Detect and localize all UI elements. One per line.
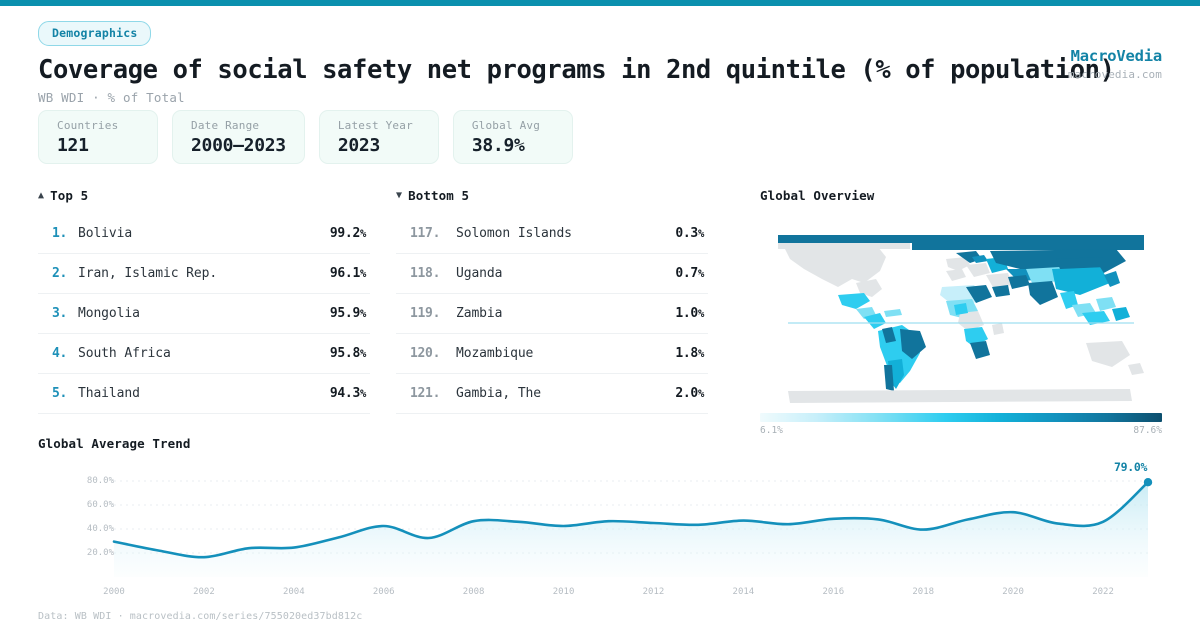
table-row[interactable]: 1.Bolivia99.2% bbox=[38, 214, 370, 254]
stat-card-date-range: Date Range 2000–2023 bbox=[172, 110, 305, 164]
x-axis-tick-label: 2008 bbox=[463, 587, 485, 597]
country-name: Iran, Islamic Rep. bbox=[78, 266, 330, 281]
map-region bbox=[1052, 267, 1110, 295]
percent-unit: % bbox=[698, 348, 704, 360]
table-row[interactable]: 117.Solomon Islands0.3% bbox=[396, 214, 708, 254]
top5-list: 1.Bolivia99.2%2.Iran, Islamic Rep.96.1%3… bbox=[38, 214, 370, 414]
world-map-svg bbox=[760, 213, 1162, 409]
table-row[interactable]: 119.Zambia1.0% bbox=[396, 294, 708, 334]
country-value: 95.9% bbox=[330, 306, 366, 321]
trend-area-fill bbox=[114, 482, 1148, 577]
map-region bbox=[788, 389, 1132, 403]
country-value: 0.7% bbox=[675, 266, 704, 281]
stat-value: 38.9% bbox=[472, 135, 554, 156]
percent-unit: % bbox=[698, 308, 704, 320]
country-value: 0.3% bbox=[675, 226, 704, 241]
map-region bbox=[1104, 271, 1120, 287]
y-axis-tick-label: 20.0% bbox=[87, 548, 114, 558]
map-region bbox=[912, 243, 1144, 250]
map-region bbox=[992, 323, 1004, 335]
country-value: 96.1% bbox=[330, 266, 366, 281]
country-name: Thailand bbox=[78, 386, 330, 401]
country-value: 95.8% bbox=[330, 346, 366, 361]
x-axis-tick-label: 2000 bbox=[103, 587, 125, 597]
map-region bbox=[838, 293, 870, 309]
percent-unit: % bbox=[360, 388, 366, 400]
stat-card-global-avg: Global Avg 38.9% bbox=[453, 110, 573, 164]
country-name: Mozambique bbox=[456, 346, 675, 361]
bottom5-heading: ▼ Bottom 5 bbox=[396, 188, 708, 203]
stat-label: Date Range bbox=[191, 119, 286, 132]
bottom5-list: 117.Solomon Islands0.3%118.Uganda0.7%119… bbox=[396, 214, 708, 414]
bottom5-heading-label: Bottom 5 bbox=[408, 188, 469, 203]
brand-url: macrovedia.com bbox=[1068, 68, 1162, 81]
rank-number: 121. bbox=[410, 386, 456, 401]
world-choropleth-map[interactable] bbox=[760, 213, 1162, 409]
table-row[interactable]: 120.Mozambique1.8% bbox=[396, 334, 708, 374]
country-value: 94.3% bbox=[330, 386, 366, 401]
x-axis-tick-label: 2012 bbox=[643, 587, 665, 597]
global-overview-panel: Global Overview 6.1% 87.6% bbox=[760, 188, 1162, 436]
stat-label: Countries bbox=[57, 119, 139, 132]
stat-label: Latest Year bbox=[338, 119, 420, 132]
brand[interactable]: MacroVedia macrovedia.com bbox=[1068, 47, 1162, 81]
map-legend-labels: 6.1% 87.6% bbox=[760, 425, 1162, 436]
stat-value: 2023 bbox=[338, 135, 420, 156]
map-region bbox=[884, 309, 902, 317]
map-region bbox=[1008, 275, 1030, 289]
table-row[interactable]: 118.Uganda0.7% bbox=[396, 254, 708, 294]
x-axis-tick-label: 2002 bbox=[193, 587, 215, 597]
percent-unit: % bbox=[360, 308, 366, 320]
percent-unit: % bbox=[360, 268, 366, 280]
percent-unit: % bbox=[360, 228, 366, 240]
trend-end-point[interactable] bbox=[1144, 478, 1152, 486]
table-row[interactable]: 3.Mongolia95.9% bbox=[38, 294, 370, 334]
country-name: Uganda bbox=[456, 266, 675, 281]
table-row[interactable]: 4.South Africa95.8% bbox=[38, 334, 370, 374]
map-region bbox=[1112, 307, 1130, 321]
table-row[interactable]: 121.Gambia, The2.0% bbox=[396, 374, 708, 414]
map-region bbox=[1086, 341, 1130, 367]
brand-name: MacroVedia bbox=[1068, 47, 1162, 65]
rank-number: 1. bbox=[52, 226, 78, 241]
page-title: Coverage of social safety net programs i… bbox=[38, 55, 1162, 85]
x-axis-tick-label: 2014 bbox=[733, 587, 755, 597]
bottom5-panel: ▼ Bottom 5 117.Solomon Islands0.3%118.Ug… bbox=[396, 188, 708, 414]
country-name: South Africa bbox=[78, 346, 330, 361]
stat-card-row: Countries 121 Date Range 2000–2023 Lates… bbox=[38, 110, 573, 164]
caret-up-icon: ▲ bbox=[38, 191, 44, 201]
percent-unit: % bbox=[360, 348, 366, 360]
country-name: Mongolia bbox=[78, 306, 330, 321]
country-value: 1.8% bbox=[675, 346, 704, 361]
top5-heading-label: Top 5 bbox=[50, 188, 88, 203]
rank-number: 3. bbox=[52, 306, 78, 321]
rank-number: 2. bbox=[52, 266, 78, 281]
country-name: Zambia bbox=[456, 306, 675, 321]
map-region bbox=[778, 235, 1144, 243]
x-axis-tick-label: 2010 bbox=[553, 587, 575, 597]
map-region bbox=[1028, 281, 1058, 305]
rank-number: 119. bbox=[410, 306, 456, 321]
trend-end-value-label: 79.0% bbox=[1114, 460, 1147, 474]
caret-down-icon: ▼ bbox=[396, 191, 402, 201]
map-region bbox=[954, 303, 968, 315]
rank-number: 4. bbox=[52, 346, 78, 361]
x-axis-tick-label: 2004 bbox=[283, 587, 305, 597]
map-region bbox=[970, 341, 990, 359]
map-heading-label: Global Overview bbox=[760, 188, 874, 203]
percent-unit: % bbox=[698, 268, 704, 280]
stat-value: 121 bbox=[57, 135, 139, 156]
map-heading: Global Overview bbox=[760, 188, 1162, 203]
x-axis-tick-label: 2018 bbox=[912, 587, 934, 597]
stat-card-latest-year: Latest Year 2023 bbox=[319, 110, 439, 164]
trend-panel: Global Average Trend 20.0%40.0%60.0%80.0… bbox=[38, 436, 1162, 604]
stat-card-countries: Countries 121 bbox=[38, 110, 158, 164]
trend-chart[interactable]: 20.0%40.0%60.0%80.0%20002002200420062008… bbox=[38, 459, 1162, 604]
x-axis-tick-label: 2006 bbox=[373, 587, 395, 597]
x-axis-tick-label: 2022 bbox=[1092, 587, 1114, 597]
legend-min-label: 6.1% bbox=[760, 425, 783, 436]
country-name: Gambia, The bbox=[456, 386, 675, 401]
rank-number: 120. bbox=[410, 346, 456, 361]
y-axis-tick-label: 40.0% bbox=[87, 524, 114, 534]
x-axis-tick-label: 2016 bbox=[822, 587, 844, 597]
top5-panel: ▲ Top 5 1.Bolivia99.2%2.Iran, Islamic Re… bbox=[38, 188, 370, 414]
top5-heading: ▲ Top 5 bbox=[38, 188, 370, 203]
map-region bbox=[1056, 257, 1106, 269]
map-color-legend bbox=[760, 413, 1162, 422]
map-region bbox=[966, 263, 990, 277]
stat-value: 2000–2023 bbox=[191, 135, 286, 156]
country-value: 1.0% bbox=[675, 306, 704, 321]
country-value: 2.0% bbox=[675, 386, 704, 401]
map-region bbox=[946, 269, 966, 281]
y-axis-tick-label: 60.0% bbox=[87, 500, 114, 510]
map-region bbox=[992, 285, 1010, 297]
table-row[interactable]: 5.Thailand94.3% bbox=[38, 374, 370, 414]
x-axis-tick-label: 2020 bbox=[1002, 587, 1024, 597]
page-header: Demographics Coverage of social safety n… bbox=[38, 21, 1162, 105]
country-name: Bolivia bbox=[78, 226, 330, 241]
rank-number: 5. bbox=[52, 386, 78, 401]
page-body: Demographics Coverage of social safety n… bbox=[0, 6, 1200, 630]
category-badge[interactable]: Demographics bbox=[38, 21, 151, 46]
trend-chart-svg bbox=[38, 459, 1162, 604]
map-region bbox=[1128, 363, 1144, 375]
rank-number: 117. bbox=[410, 226, 456, 241]
country-value: 99.2% bbox=[330, 226, 366, 241]
percent-unit: % bbox=[698, 388, 704, 400]
y-axis-tick-label: 80.0% bbox=[87, 476, 114, 486]
stat-label: Global Avg bbox=[472, 119, 554, 132]
percent-unit: % bbox=[698, 228, 704, 240]
legend-max-label: 87.6% bbox=[1133, 425, 1162, 436]
page-subtitle: WB WDI · % of Total bbox=[38, 90, 1162, 105]
table-row[interactable]: 2.Iran, Islamic Rep.96.1% bbox=[38, 254, 370, 294]
country-name: Solomon Islands bbox=[456, 226, 675, 241]
rank-number: 118. bbox=[410, 266, 456, 281]
footer-source: Data: WB WDI · macrovedia.com/series/755… bbox=[38, 611, 362, 622]
trend-heading: Global Average Trend bbox=[38, 436, 1162, 451]
